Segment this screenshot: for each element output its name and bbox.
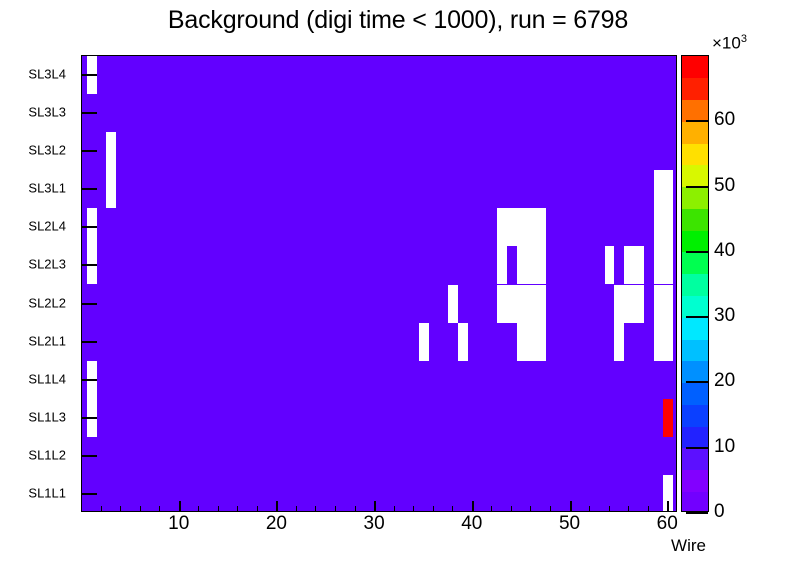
colorbar-tick-label-40: 40 — [714, 240, 735, 262]
x-axis-minor-tick — [257, 506, 258, 512]
y-axis-tick-label-sl1l2: SL1L2 — [28, 447, 66, 462]
heatmap-cell — [654, 170, 674, 208]
x-axis-minor-tick — [315, 506, 316, 512]
colorbar-tick-label-50: 50 — [714, 175, 735, 197]
colorbar-band — [682, 339, 708, 361]
y-axis-tick-label-sl2l4: SL2L4 — [28, 219, 66, 234]
x-axis-title: Wire — [671, 536, 706, 556]
colorbar-tick-label-0: 0 — [714, 501, 725, 523]
colorbar-band — [682, 382, 708, 404]
heatmap-cell — [654, 285, 674, 323]
y-axis-tick-mark — [82, 341, 97, 343]
x-axis-major-tick — [570, 501, 572, 512]
heatmap-cell — [497, 285, 546, 323]
colorbar-band — [682, 78, 708, 100]
x-axis-minor-tick — [335, 506, 336, 512]
x-axis-minor-tick — [550, 506, 551, 512]
x-axis-tick-label-20: 20 — [266, 513, 287, 535]
colorbar[interactable] — [681, 55, 709, 512]
y-axis-tick-mark — [82, 493, 97, 495]
x-axis-minor-tick — [491, 506, 492, 512]
x-axis-major-tick — [374, 501, 376, 512]
heatmap-cell — [663, 399, 673, 437]
colorbar-tick-label-20: 20 — [714, 370, 735, 392]
x-axis-tick-label-50: 50 — [559, 513, 580, 535]
y-axis-tick-mark — [82, 417, 97, 419]
heatmap-cell — [654, 246, 674, 284]
colorbar-band — [682, 295, 708, 317]
x-axis-minor-tick — [511, 506, 512, 512]
colorbar-multiplier-label: ×103 — [712, 33, 747, 54]
x-axis-minor-tick — [433, 506, 434, 512]
y-axis-tick-label-sl3l4: SL3L4 — [28, 67, 66, 82]
heatmap-cell — [497, 208, 546, 246]
y-axis-tick-mark — [82, 303, 97, 305]
page-title: Background (digi time < 1000), run = 679… — [0, 6, 796, 35]
heatmap-plot-area[interactable] — [81, 55, 677, 512]
y-axis-tick-mark — [82, 379, 97, 381]
colorbar-tick-mark — [686, 316, 708, 318]
colorbar-band — [682, 143, 708, 165]
y-axis-tick-mark — [82, 150, 97, 152]
x-axis-minor-tick — [589, 506, 590, 512]
heatmap-cell — [624, 246, 644, 284]
heatmap-cell — [624, 285, 644, 323]
y-axis-tick-label-sl2l2: SL2L2 — [28, 295, 66, 310]
y-axis-tick-label-sl1l1: SL1L1 — [28, 485, 66, 500]
y-axis-tick-mark — [82, 226, 97, 228]
heatmap-cell — [507, 246, 517, 284]
x-axis-major-tick — [276, 501, 278, 512]
colorbar-band — [682, 208, 708, 230]
heatmap-cell — [448, 285, 458, 323]
x-axis-minor-tick — [452, 506, 453, 512]
colorbar-tick-mark — [686, 381, 708, 383]
x-axis-minor-tick — [530, 506, 531, 512]
colorbar-band — [682, 448, 708, 470]
colorbar-band — [682, 491, 708, 512]
heatmap-cell — [654, 208, 674, 246]
colorbar-tick-mark — [686, 251, 708, 253]
x-axis-tick-label-30: 30 — [364, 513, 385, 535]
y-axis: SL3L4SL3L3SL3L2SL3L1SL2L4SL2L3SL2L2SL2L1… — [0, 55, 75, 512]
colorbar-tick-mark — [686, 512, 708, 514]
colorbar-tick-label-60: 60 — [714, 109, 735, 131]
y-axis-tick-label-sl3l1: SL3L1 — [28, 181, 66, 196]
colorbar-band — [682, 165, 708, 187]
y-axis-tick-mark — [82, 74, 97, 76]
colorbar-band — [682, 230, 708, 252]
x-axis-minor-tick — [355, 506, 356, 512]
colorbar-multiplier-base: ×10 — [712, 34, 741, 53]
heatmap-cell — [106, 170, 116, 208]
x-axis-tick-label-40: 40 — [461, 513, 482, 535]
x-axis-minor-tick — [159, 506, 160, 512]
heatmap-cell — [605, 246, 615, 284]
heatmap-cell — [654, 323, 674, 361]
colorbar-multiplier-exponent: 3 — [741, 33, 747, 45]
y-axis-tick-mark — [82, 112, 97, 114]
x-axis-minor-tick — [140, 506, 141, 512]
y-axis-tick-label-sl1l4: SL1L4 — [28, 371, 66, 386]
colorbar-band — [682, 404, 708, 426]
heatmap-cell — [517, 323, 546, 361]
x-axis-major-tick — [472, 501, 474, 512]
x-axis-minor-tick — [628, 506, 629, 512]
x-axis-major-tick — [667, 501, 669, 512]
colorbar-band — [682, 274, 708, 296]
colorbar-band — [682, 252, 708, 274]
x-axis-minor-tick — [609, 506, 610, 512]
colorbar-band — [682, 56, 708, 78]
root-canvas: Background (digi time < 1000), run = 679… — [0, 0, 796, 572]
x-axis-tick-label-60: 60 — [657, 513, 678, 535]
y-axis-tick-mark — [82, 188, 97, 190]
y-axis-tick-label-sl2l3: SL2L3 — [28, 257, 66, 272]
x-axis-tick-label-10: 10 — [168, 513, 189, 535]
colorbar-band — [682, 469, 708, 491]
heatmap-cell — [106, 132, 116, 170]
x-axis-minor-tick — [413, 506, 414, 512]
x-axis-minor-tick — [218, 506, 219, 512]
colorbar-tick-mark — [686, 186, 708, 188]
heatmap-cell — [614, 323, 624, 361]
colorbar-band — [682, 187, 708, 209]
colorbar-band — [682, 121, 708, 143]
y-axis-tick-label-sl1l3: SL1L3 — [28, 409, 66, 424]
colorbar-tick-mark — [686, 120, 708, 122]
y-axis-tick-mark — [82, 264, 97, 266]
colorbar-band — [682, 426, 708, 448]
x-axis-major-tick — [179, 501, 181, 512]
x-axis-minor-tick — [120, 506, 121, 512]
colorbar-tick-mark — [686, 447, 708, 449]
heatmap-cell — [458, 323, 468, 361]
colorbar-tick-label-10: 10 — [714, 436, 735, 458]
y-axis-tick-label-sl3l2: SL3L2 — [28, 143, 66, 158]
x-axis-minor-tick — [394, 506, 395, 512]
heatmap-cell — [614, 285, 624, 323]
colorbar-band — [682, 361, 708, 383]
heatmap-baseline-fill — [82, 56, 677, 512]
x-axis-minor-tick — [296, 506, 297, 512]
y-axis-tick-label-sl3l3: SL3L3 — [28, 105, 66, 120]
y-axis-tick-label-sl2l1: SL2L1 — [28, 333, 66, 348]
y-axis-tick-mark — [82, 455, 97, 457]
heatmap-cell-layer — [82, 56, 676, 511]
x-axis-minor-tick — [101, 506, 102, 512]
x-axis-minor-tick — [237, 506, 238, 512]
x-axis-minor-tick — [648, 506, 649, 512]
heatmap-cell — [419, 323, 429, 361]
x-axis-minor-tick — [198, 506, 199, 512]
colorbar-band — [682, 100, 708, 122]
colorbar-band — [682, 317, 708, 339]
heatmap-cell — [497, 246, 546, 284]
colorbar-tick-label-30: 30 — [714, 305, 735, 327]
